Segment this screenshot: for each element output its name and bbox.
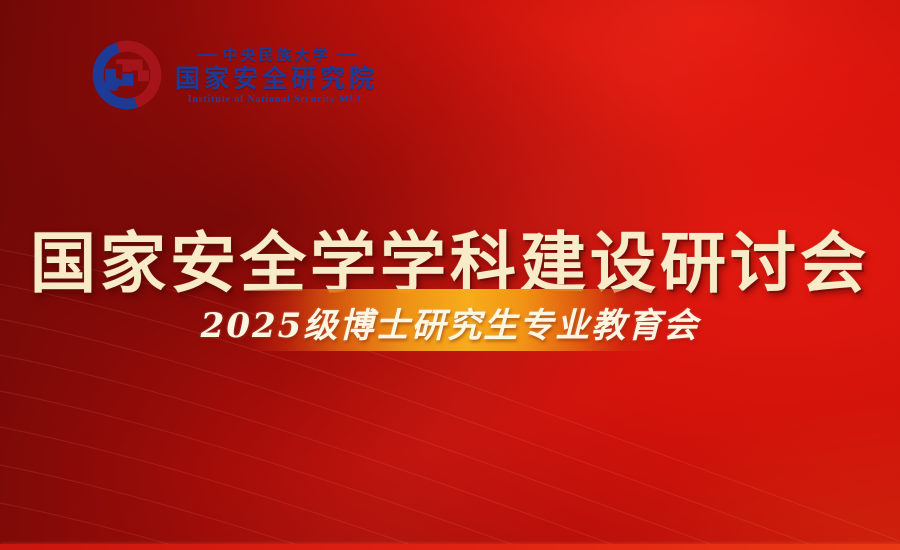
bottom-accent-strip [0,544,900,550]
subtitle-container: 2025级博士研究生专业教育会 [0,298,900,347]
conference-banner: 中央民族大学 国家安全研究院 Institute of National Sec… [0,0,900,550]
logo-rule-right-icon [337,54,357,56]
logo-english-name: Institute of National Security MUC [188,95,366,105]
logo-rule-left-icon [197,54,217,56]
institute-logo-text: 中央民族大学 国家安全研究院 Institute of National Sec… [175,46,378,105]
institute-emblem-icon [88,36,166,114]
logo-university-line: 中央民族大学 [197,48,357,63]
logo-university-name: 中央民族大学 [223,48,331,63]
page-subtitle: 2025级博士研究生专业教育会 [201,298,700,347]
logo-institute-name: 国家安全研究院 [175,66,378,91]
institute-logo-lockup: 中央民族大学 国家安全研究院 Institute of National Sec… [88,36,378,114]
